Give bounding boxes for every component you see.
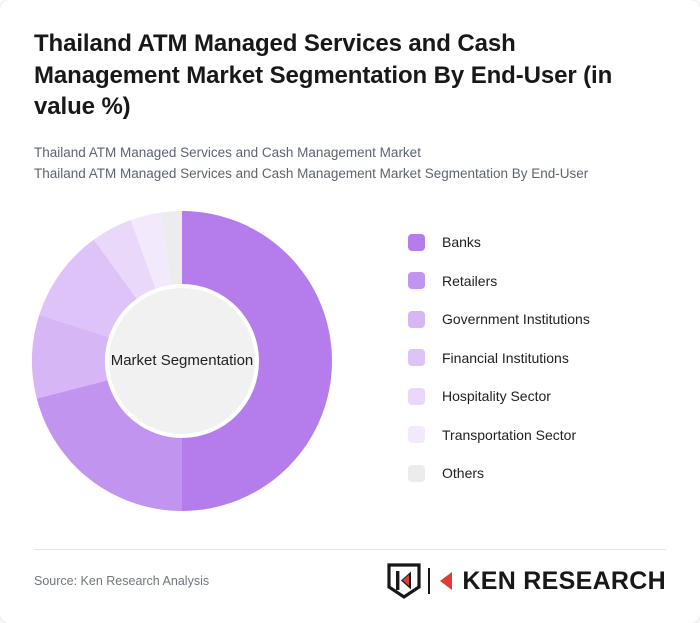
subtitle-segmentation: Thailand ATM Managed Services and Cash M… [34, 164, 666, 185]
brand-wordmark: KEN RESEARCH [462, 569, 666, 594]
legend-item[interactable]: Others [408, 454, 700, 493]
legend-swatch [408, 349, 425, 366]
subtitle-group: Thailand ATM Managed Services and Cash M… [34, 143, 666, 185]
ken-research-logo: KEN RESEARCH [387, 563, 666, 599]
legend-swatch [408, 388, 425, 405]
chart-legend: BanksRetailersGovernment InstitutionsFin… [340, 201, 700, 493]
legend-item[interactable]: Financial Institutions [408, 338, 700, 377]
legend-item[interactable]: Hospitality Sector [408, 377, 700, 416]
legend-label: Government Institutions [442, 311, 590, 327]
legend-label: Retailers [442, 273, 497, 289]
legend-label: Banks [442, 234, 481, 250]
legend-label: Transportation Sector [442, 427, 576, 443]
ken-research-mark-icon [387, 563, 421, 599]
legend-item[interactable]: Retailers [408, 261, 700, 300]
chart-header: Thailand ATM Managed Services and Cash M… [0, 0, 700, 185]
legend-swatch [408, 234, 425, 251]
page-title: Thailand ATM Managed Services and Cash M… [34, 28, 659, 123]
legend-swatch [408, 426, 425, 443]
legend-item[interactable]: Government Institutions [408, 300, 700, 339]
donut-chart [32, 211, 332, 511]
chart-footer: Source: Ken Research Analysis KEN RESEAR… [34, 561, 666, 601]
legend-label: Financial Institutions [442, 350, 569, 366]
chart-card: Thailand ATM Managed Services and Cash M… [0, 0, 700, 623]
logo-separator [428, 568, 430, 594]
legend-label: Others [442, 465, 484, 481]
subtitle-market: Thailand ATM Managed Services and Cash M… [34, 143, 666, 164]
legend-swatch [408, 465, 425, 482]
chart-body: Market Segmentation BanksRetailersGovern… [0, 201, 700, 521]
legend-label: Hospitality Sector [442, 388, 551, 404]
footer-divider [34, 549, 666, 550]
donut-chart-container: Market Segmentation [0, 201, 340, 521]
legend-swatch [408, 272, 425, 289]
ken-research-triangle-icon [437, 568, 455, 594]
legend-item[interactable]: Transportation Sector [408, 415, 700, 454]
legend-swatch [408, 311, 425, 328]
legend-item[interactable]: Banks [408, 223, 700, 262]
source-note: Source: Ken Research Analysis [34, 574, 209, 588]
donut-hole [109, 288, 255, 434]
